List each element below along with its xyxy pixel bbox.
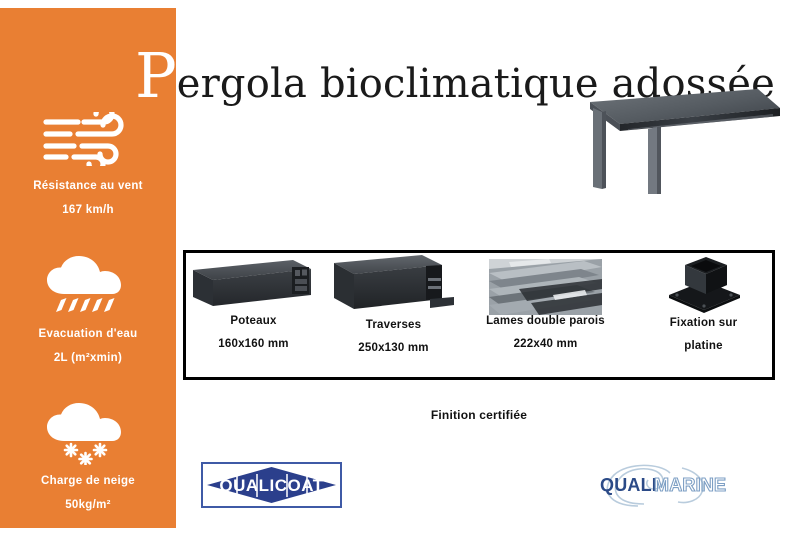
product-specs-box: Poteaux 160x160 mm: [183, 250, 775, 380]
product-item-traverses: Traverses 250x130 mm: [326, 253, 461, 354]
product-item-lames: Lames double parois 222x40 mm: [458, 259, 633, 350]
rain-cloud-icon: [0, 256, 176, 318]
qualimarine-logo-quali: QUALI: [600, 475, 657, 495]
wind-icon: [0, 108, 176, 170]
poster-page: Résistance au vent 167 km/h Evacuation d…: [0, 0, 800, 534]
poteau-profile-photo: [186, 257, 321, 315]
spec-label: Evacuation d'eau: [0, 328, 176, 340]
title-initial: P: [135, 39, 177, 112]
qualicoat-logo-text: QUALICOAT: [219, 476, 323, 495]
qualicoat-logo: QUALICOAT: [201, 462, 342, 508]
product-dimension: 222x40 mm: [458, 338, 633, 350]
certification-title: Finition certifiée: [183, 408, 775, 422]
product-item-fixation: Fixation sur platine: [636, 255, 771, 352]
traverse-profile-photo: [326, 253, 461, 319]
product-name: Lames double parois: [458, 315, 633, 327]
qualimarine-logo: QUALI MARINE: [586, 462, 736, 508]
spec-item-water: Evacuation d'eau 2L (m²xmin): [0, 256, 176, 364]
spec-value: 50kg/m²: [0, 499, 176, 511]
spec-item-snow: Charge de neige 50kg/m²: [0, 403, 176, 511]
spec-value: 2L (m²xmin): [0, 352, 176, 364]
product-name: Poteaux: [186, 315, 321, 327]
pergola-photo: [568, 84, 784, 196]
product-dimension: 250x130 mm: [326, 342, 461, 354]
product-item-poteaux: Poteaux 160x160 mm: [186, 257, 321, 350]
product-dimension: 160x160 mm: [186, 338, 321, 350]
product-name: Fixation sur: [636, 317, 771, 329]
snow-cloud-icon: [0, 403, 176, 465]
spec-label: Charge de neige: [0, 475, 176, 487]
qualimarine-logo-marine: MARINE: [654, 475, 726, 495]
fixation-platine-photo: [636, 255, 771, 317]
spec-value: 167 km/h: [0, 204, 176, 216]
product-dimension: platine: [636, 340, 771, 352]
spec-label: Résistance au vent: [0, 180, 176, 192]
lames-double-parois-photo: [458, 259, 633, 315]
spec-item-wind: Résistance au vent 167 km/h: [0, 108, 176, 216]
product-name: Traverses: [326, 319, 461, 331]
